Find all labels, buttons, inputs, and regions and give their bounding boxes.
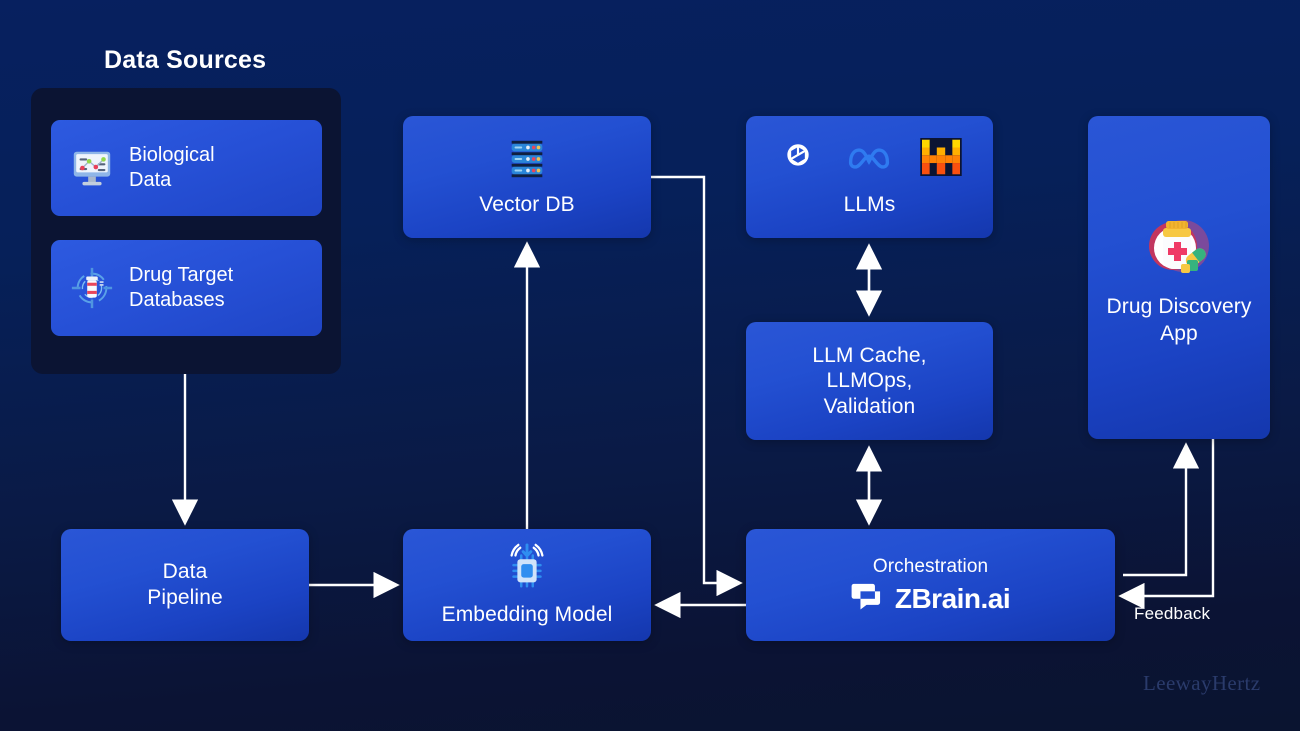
- zbrain-brand-name: ZBrain.ai: [895, 583, 1010, 615]
- mistral-logo-icon: [920, 138, 962, 181]
- arrow-feedback-to-orchestration: [1123, 439, 1213, 596]
- node-orchestration[interactable]: Orchestration ZBrain.ai: [746, 529, 1115, 641]
- node-label: Drug Discovery App: [1107, 294, 1252, 347]
- node-label: LLMs: [844, 192, 896, 218]
- data-sources-panel: Biological Data: [31, 88, 341, 374]
- chat-bubble-icon: [851, 582, 883, 615]
- node-label: Vector DB: [479, 192, 574, 218]
- feedback-label: Feedback: [1134, 604, 1210, 624]
- node-label: Data Pipeline: [147, 559, 223, 610]
- zbrain-logo: ZBrain.ai: [851, 582, 1010, 615]
- node-vector-db[interactable]: Vector DB: [403, 116, 651, 238]
- meta-logo-icon: [846, 143, 892, 176]
- openai-logo-icon: [778, 137, 818, 182]
- pill-bottle-icon: [1143, 208, 1215, 280]
- chip-signal-icon: [502, 542, 552, 592]
- source-card-drug-target-databases[interactable]: Drug Target Databases: [51, 240, 322, 336]
- node-embedding-model[interactable]: Embedding Model: [403, 529, 651, 641]
- target-vial-icon: [69, 265, 115, 311]
- node-llms[interactable]: LLMs: [746, 116, 993, 238]
- node-data-pipeline[interactable]: Data Pipeline: [61, 529, 309, 641]
- page-title: Data Sources: [104, 46, 266, 75]
- llm-logo-row: [778, 137, 962, 182]
- source-card-label: Biological Data: [129, 143, 215, 193]
- node-label: Orchestration: [873, 555, 988, 578]
- node-llm-cache-llmops-validation[interactable]: LLM Cache, LLMOps, Validation: [746, 322, 993, 440]
- monitor-chart-icon: [69, 145, 115, 191]
- node-drug-discovery-app[interactable]: Drug Discovery App: [1088, 116, 1270, 439]
- arrow-orchestration-to-app: [1123, 447, 1186, 575]
- diagram-canvas: Data Sources: [0, 0, 1300, 731]
- arrow-vectordb-to-orchestration: [651, 177, 738, 583]
- source-card-label: Drug Target Databases: [129, 263, 233, 313]
- watermark: LeewayHertz: [1143, 671, 1261, 696]
- server-stack-icon: [504, 136, 550, 182]
- node-label: Embedding Model: [442, 602, 613, 628]
- source-card-biological-data[interactable]: Biological Data: [51, 120, 322, 216]
- node-label: LLM Cache, LLMOps, Validation: [812, 343, 926, 420]
